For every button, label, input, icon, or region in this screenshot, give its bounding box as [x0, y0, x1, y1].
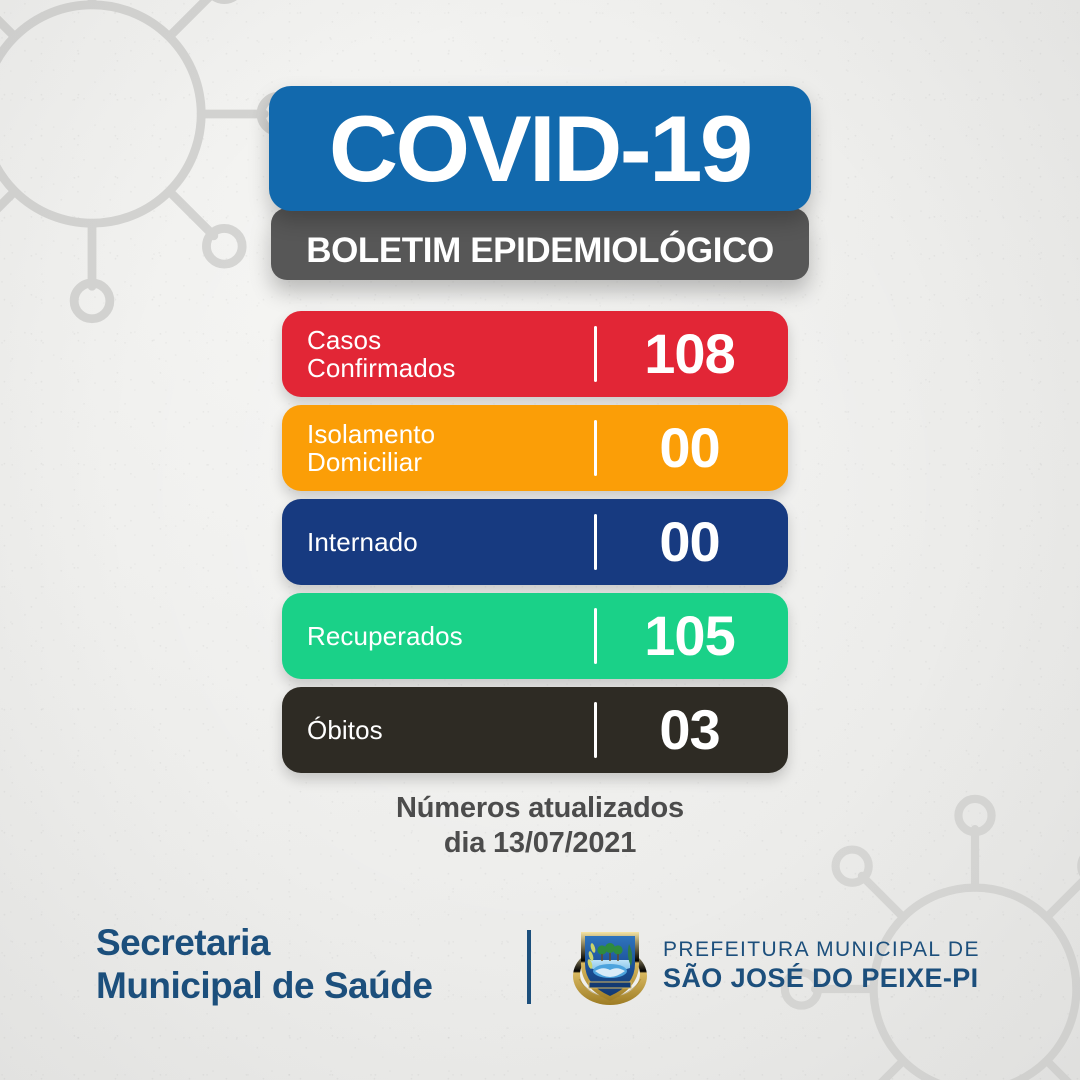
stat-row-isolamento-domiciliar: Isolamento Domiciliar 00 — [282, 405, 788, 491]
stat-label: Óbitos — [282, 716, 594, 744]
department-line1: Secretaria — [96, 922, 432, 965]
stat-row-internado: Internado 00 — [282, 499, 788, 585]
stat-label: Casos Confirmados — [282, 326, 594, 382]
stat-label: Internado — [282, 528, 594, 556]
covid-bulletin-poster: BOLETIM EPIDEMIOLÓGICO COVID-19 Casos Co… — [0, 0, 1080, 1080]
city-hall-line2: SÃO JOSÉ DO PEIXE-PI — [663, 963, 980, 995]
stat-label: Isolamento Domiciliar — [282, 420, 594, 476]
stat-value: 108 — [597, 326, 788, 382]
update-note-line1: Números atualizados — [0, 791, 1080, 826]
city-hall-block: PREFEITURA MUNICIPAL DE SÃO JOSÉ DO PEIX… — [571, 924, 980, 1008]
coat-of-arms-icon — [571, 924, 649, 1008]
stat-label: Recuperados — [282, 622, 594, 650]
stat-row-recuperados: Recuperados 105 — [282, 593, 788, 679]
city-hall-line1: PREFEITURA MUNICIPAL DE — [663, 937, 980, 962]
department-line2: Municipal de Saúde — [96, 965, 432, 1008]
statistics-list: Casos Confirmados 108 Isolamento Domicil… — [282, 311, 788, 781]
stat-row-casos-confirmados: Casos Confirmados 108 — [282, 311, 788, 397]
header-subtitle: BOLETIM EPIDEMIOLÓGICO — [306, 231, 774, 271]
stat-value: 00 — [597, 514, 788, 570]
stat-value: 105 — [597, 608, 788, 664]
poster-header: BOLETIM EPIDEMIOLÓGICO COVID-19 — [0, 86, 1080, 211]
header-subtitle-banner: BOLETIM EPIDEMIOLÓGICO — [271, 208, 809, 280]
poster-footer: Secretaria Municipal de Saúde — [0, 918, 1080, 1028]
update-note-line2: dia 13/07/2021 — [0, 826, 1080, 861]
health-department-name: Secretaria Municipal de Saúde — [96, 922, 432, 1008]
header-title-banner: COVID-19 — [269, 86, 811, 211]
stat-value: 00 — [597, 420, 788, 476]
page-title: COVID-19 — [329, 102, 751, 196]
footer-divider — [527, 930, 531, 1004]
update-note: Números atualizados dia 13/07/2021 — [0, 791, 1080, 862]
stat-value: 03 — [597, 702, 788, 758]
stat-row-obitos: Óbitos 03 — [282, 687, 788, 773]
city-hall-text: PREFEITURA MUNICIPAL DE SÃO JOSÉ DO PEIX… — [663, 937, 980, 994]
